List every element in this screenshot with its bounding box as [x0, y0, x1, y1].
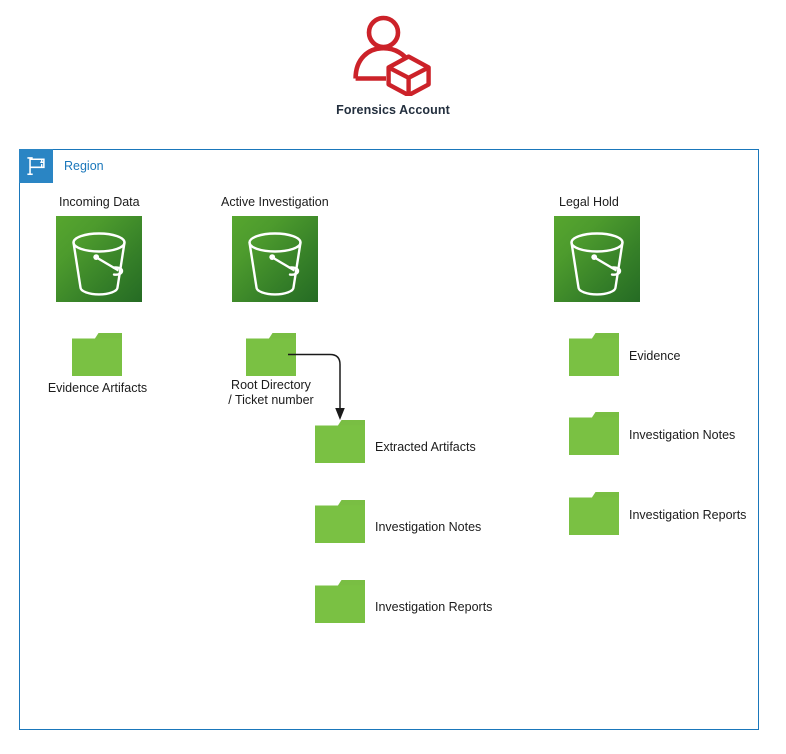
- folder-icon-investigation-reports-active[interactable]: [314, 578, 366, 624]
- folder-icon-investigation-notes-active[interactable]: [314, 498, 366, 544]
- s3-bucket-icon-incoming-data[interactable]: [56, 216, 142, 302]
- s3-bucket-icon-legal-hold[interactable]: [554, 216, 640, 302]
- folder-icon-extracted-artifacts[interactable]: [314, 418, 366, 464]
- forensics-account-label: Forensics Account: [0, 103, 786, 117]
- folder-label-investigation-notes-legal: Investigation Notes: [629, 428, 735, 442]
- folder-label-investigation-reports-active: Investigation Reports: [375, 600, 492, 614]
- folder-label-investigation-reports-legal: Investigation Reports: [629, 508, 746, 522]
- folder-icon-investigation-reports-legal[interactable]: [568, 490, 620, 536]
- s3-bucket-icon-active-investigation[interactable]: [232, 216, 318, 302]
- region-header: Region: [19, 149, 104, 183]
- folder-label-investigation-notes-active: Investigation Notes: [375, 520, 481, 534]
- folder-label-extracted-artifacts: Extracted Artifacts: [375, 440, 476, 454]
- forensics-account-icon: [353, 14, 433, 96]
- root-to-extracted-arrow: [288, 346, 358, 426]
- column-title-incoming-data: Incoming Data: [59, 195, 140, 209]
- folder-icon-investigation-notes-legal[interactable]: [568, 410, 620, 456]
- folder-label-evidence: Evidence: [629, 349, 680, 363]
- folder-icon-evidence[interactable]: [568, 331, 620, 377]
- column-title-active-investigation: Active Investigation: [221, 195, 329, 209]
- region-label: Region: [64, 149, 104, 183]
- region-flag-icon: [19, 149, 53, 183]
- folder-label-evidence-artifacts: Evidence Artifacts: [46, 381, 149, 395]
- column-title-legal-hold: Legal Hold: [559, 195, 619, 209]
- folder-icon-evidence-artifacts[interactable]: [71, 331, 123, 377]
- forensics-account-group: Forensics Account: [0, 0, 786, 130]
